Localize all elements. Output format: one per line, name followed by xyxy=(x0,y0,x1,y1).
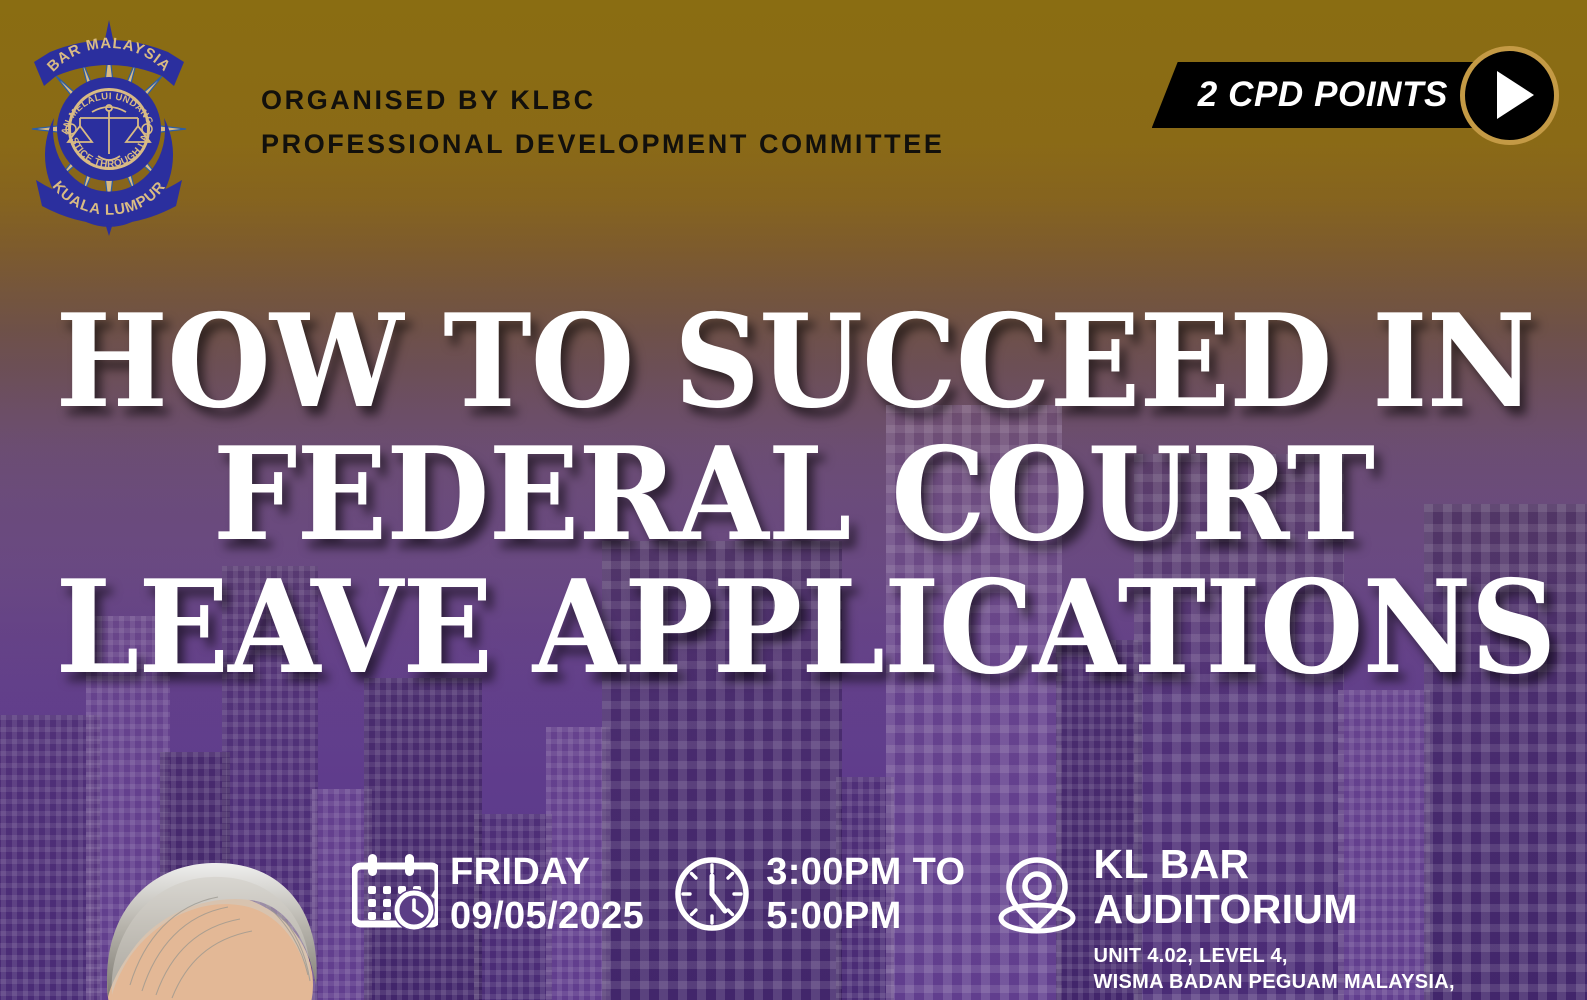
location-pin-icon xyxy=(995,852,1079,941)
title-line-1: HOW TO SUCCEED IN xyxy=(56,296,1532,429)
play-icon xyxy=(1497,71,1534,119)
event-date-value: 09/05/2025 xyxy=(450,894,644,938)
organiser-line-2: PROFESSIONAL DEVELOPMENT COMMITTEE xyxy=(261,122,944,166)
event-venue-text: KL BAR AUDITORIUM UNIT 4.02, LEVEL 4, WI… xyxy=(1093,842,1454,1000)
speaker-photo xyxy=(60,835,360,1000)
title-line-2: FEDERAL COURT xyxy=(56,429,1532,562)
venue-address-line-2: WISMA BADAN PEGUAM MALAYSIA, xyxy=(1093,969,1454,995)
kl-bar-logo: BAR MALAYSIA KUALA LUMPUR KEADILAN MELAL… xyxy=(14,14,204,239)
play-button-circle[interactable] xyxy=(1460,46,1559,145)
event-time-text: 3:00PM TO 5:00PM xyxy=(766,842,965,938)
event-venue: KL BAR AUDITORIUM UNIT 4.02, LEVEL 4, WI… xyxy=(995,842,1454,1000)
venue-address-line-1: UNIT 4.02, LEVEL 4, xyxy=(1093,943,1454,969)
organiser-block: ORGANISED BY KLBC PROFESSIONAL DEVELOPME… xyxy=(261,78,944,166)
event-day: FRIDAY xyxy=(450,850,644,894)
venue-address: UNIT 4.02, LEVEL 4, WISMA BADAN PEGUAM M… xyxy=(1093,943,1454,1000)
event-date: FRIDAY 09/05/2025 xyxy=(352,842,644,938)
cpd-points-badge: 2 CPD POINTS xyxy=(1152,55,1559,135)
venue-name-line-1: KL BAR xyxy=(1093,842,1454,887)
event-time-line-2: 5:00PM xyxy=(766,894,965,938)
title-line-3: LEAVE APPLICATIONS xyxy=(56,562,1532,695)
event-time: 3:00PM TO 5:00PM xyxy=(672,842,965,939)
calendar-clock-icon xyxy=(352,850,438,935)
event-details-bar: FRIDAY 09/05/2025 xyxy=(352,820,1587,1000)
page-title: HOW TO SUCCEED IN FEDERAL COURT LEAVE AP… xyxy=(56,296,1532,695)
venue-name-line-2: AUDITORIUM xyxy=(1093,887,1454,932)
venue-address-line-3: NO. 2, LEBOH PASAR BESAR, 50050 xyxy=(1093,995,1454,1000)
event-date-text: FRIDAY 09/05/2025 xyxy=(450,842,644,938)
event-poster: BAR MALAYSIA KUALA LUMPUR KEADILAN MELAL… xyxy=(0,0,1587,1000)
organiser-line-1: ORGANISED BY KLBC xyxy=(261,78,944,122)
clock-icon xyxy=(672,854,752,939)
event-time-line-1: 3:00PM TO xyxy=(766,850,965,894)
